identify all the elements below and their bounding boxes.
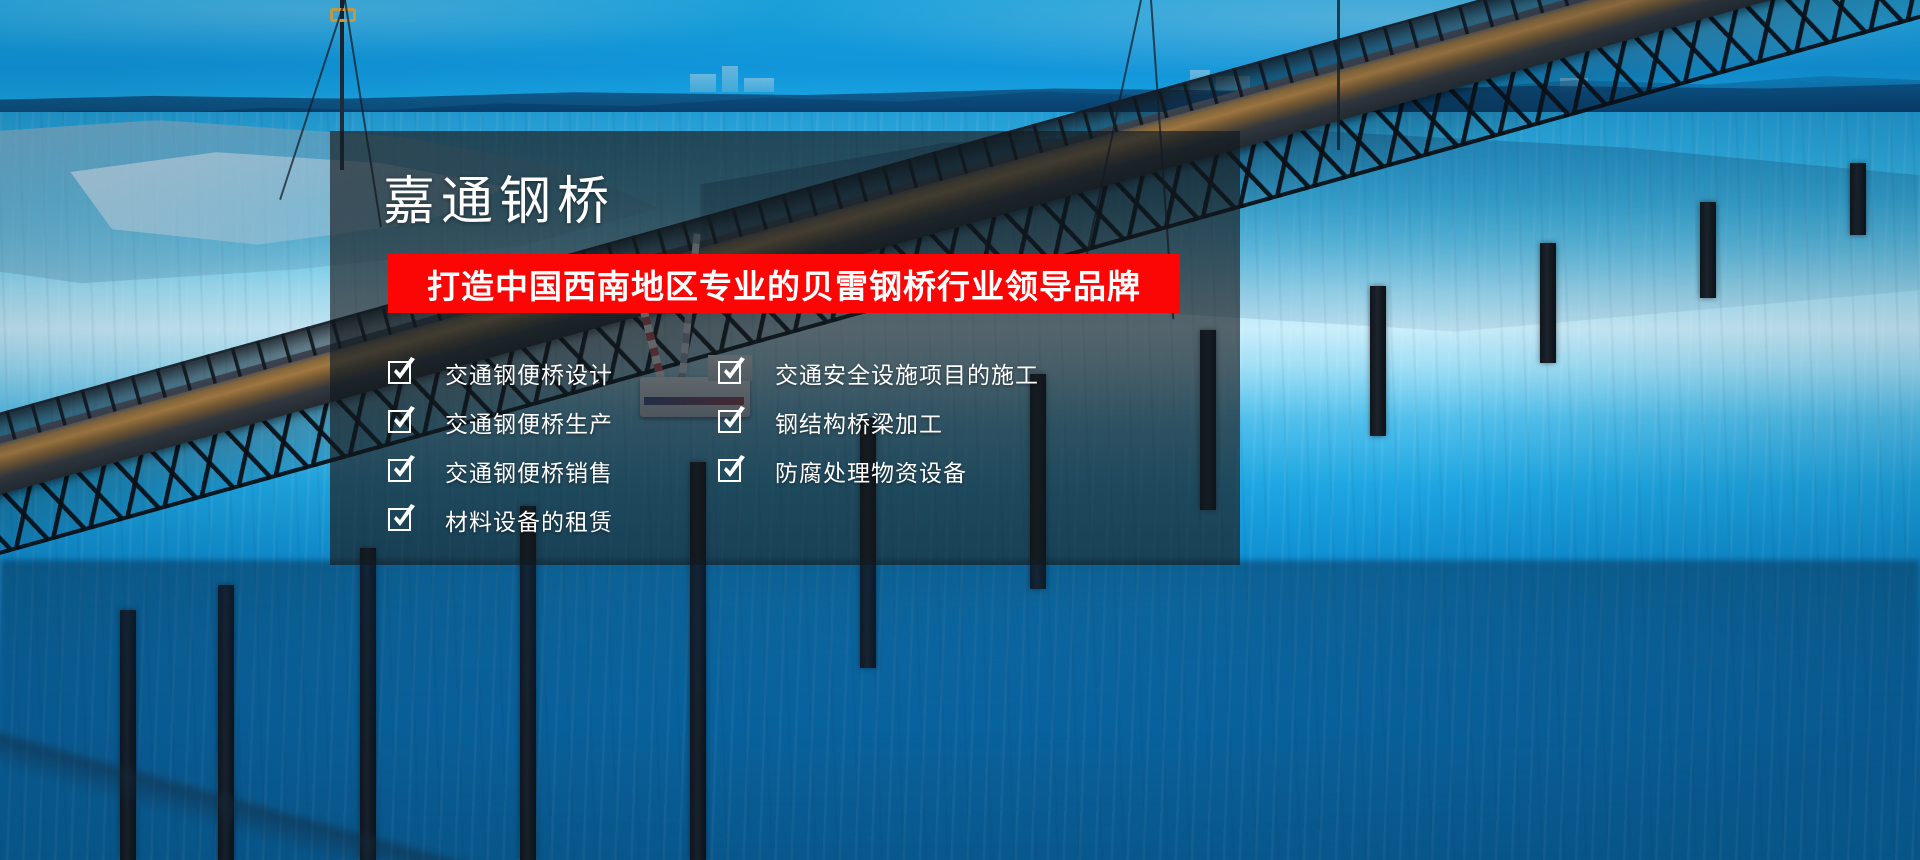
- hero-banner: 嘉通钢桥 打造中国西南地区专业的贝雷钢桥行业领导品牌 交通钢便桥设计 交通钢便桥…: [0, 0, 1920, 860]
- service-label: 交通钢便桥生产: [445, 405, 613, 439]
- checkbox-checked-icon: [388, 508, 411, 531]
- checkbox-checked-icon: [718, 459, 741, 482]
- slogan-banner: 打造中国西南地区专业的贝雷钢桥行业领导品牌: [388, 254, 1180, 313]
- service-label: 防腐处理物资设备: [775, 454, 967, 488]
- list-item[interactable]: 材料设备的租赁: [388, 495, 718, 544]
- brand-title: 嘉通钢桥: [383, 176, 615, 228]
- transmission-tower: [1337, 0, 1340, 150]
- slogan-text: 打造中国西南地区专业的贝雷钢桥行业领导品牌: [427, 260, 1141, 308]
- checkbox-checked-icon: [718, 361, 741, 384]
- list-item[interactable]: 钢结构桥梁加工: [718, 397, 1178, 446]
- checkbox-checked-icon: [388, 361, 411, 384]
- checkbox-checked-icon: [388, 459, 411, 482]
- list-item[interactable]: 防腐处理物资设备: [718, 446, 1178, 495]
- crane-hook-icon: [330, 8, 356, 22]
- checkbox-checked-icon: [718, 410, 741, 433]
- service-list: 交通钢便桥设计 交通钢便桥生产 交通钢便桥销售 材料设备的租赁: [388, 348, 1188, 548]
- service-list-left-column: 交通钢便桥设计 交通钢便桥生产 交通钢便桥销售 材料设备的租赁: [388, 348, 718, 548]
- list-item[interactable]: 交通钢便桥销售: [388, 446, 718, 495]
- service-label: 钢结构桥梁加工: [775, 405, 943, 439]
- service-label: 材料设备的租赁: [445, 503, 613, 537]
- list-item[interactable]: 交通钢便桥设计: [388, 348, 718, 397]
- service-list-right-column: 交通安全设施项目的施工 钢结构桥梁加工 防腐处理物资设备: [718, 348, 1178, 548]
- checkbox-checked-icon: [388, 410, 411, 433]
- list-item[interactable]: 交通钢便桥生产: [388, 397, 718, 446]
- service-label: 交通钢便桥设计: [445, 356, 613, 390]
- service-label: 交通钢便桥销售: [445, 454, 613, 488]
- service-label: 交通安全设施项目的施工: [775, 356, 1039, 390]
- list-item[interactable]: 交通安全设施项目的施工: [718, 348, 1178, 397]
